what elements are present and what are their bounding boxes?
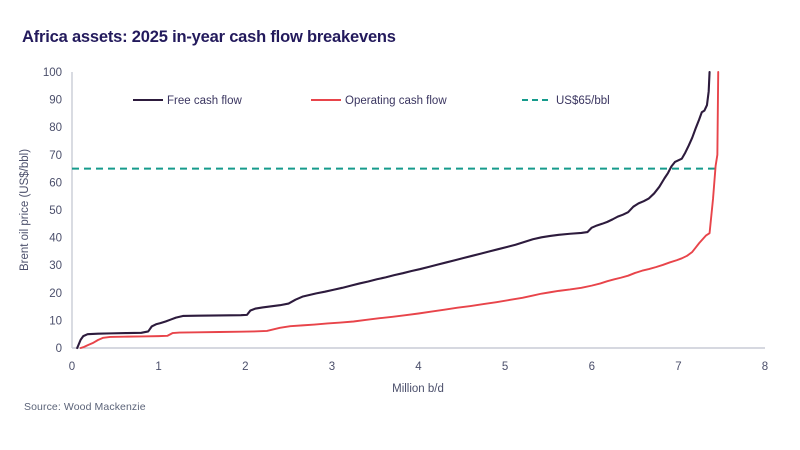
- x-tick-label: 6: [589, 361, 595, 373]
- x-tick-label: 3: [329, 361, 335, 373]
- y-tick-label: 0: [56, 343, 62, 355]
- chart-plot-area: 100 90 80 70 60 50 40 30 20 10 0 0 1 2 3…: [0, 0, 800, 450]
- y-tick-label: 80: [49, 122, 62, 134]
- x-axis-title: Million b/d: [392, 383, 444, 395]
- series-line-operating-cash-flow: [81, 72, 719, 348]
- y-tick-label: 50: [49, 205, 62, 217]
- y-tick-label: 70: [49, 150, 62, 162]
- y-tick-label: 20: [49, 288, 62, 300]
- x-tick-label: 2: [242, 361, 248, 373]
- source-note: Source: Wood Mackenzie: [24, 401, 146, 413]
- legend-label-free-cash-flow[interactable]: Free cash flow: [167, 95, 242, 107]
- y-tick-label: 30: [49, 260, 62, 272]
- x-axis-tick-labels: 0 1 2 3 4 5 6 7 8: [69, 361, 768, 373]
- y-tick-label: 10: [49, 315, 62, 327]
- y-tick-label: 60: [49, 177, 62, 189]
- legend-label-operating-cash-flow[interactable]: Operating cash flow: [345, 95, 447, 107]
- y-axis-tick-labels: 100 90 80 70 60 50 40 30 20 10 0: [43, 67, 62, 355]
- y-tick-label: 40: [49, 233, 62, 245]
- x-tick-label: 4: [415, 361, 422, 373]
- chart-svg: 100 90 80 70 60 50 40 30 20 10 0 0 1 2 3…: [0, 0, 800, 450]
- chart-card: Africa assets: 2025 in-year cash flow br…: [0, 0, 800, 450]
- x-tick-label: 7: [675, 361, 681, 373]
- x-tick-label: 1: [155, 361, 161, 373]
- y-tick-label: 100: [43, 67, 62, 79]
- legend-label-us65-threshold[interactable]: US$65/bbl: [556, 95, 610, 107]
- x-tick-label: 0: [69, 361, 75, 373]
- y-axis-title: Brent oil price (US$/bbl): [19, 149, 31, 271]
- y-tick-label: 90: [49, 95, 62, 107]
- x-tick-label: 8: [762, 361, 768, 373]
- series-line-free-cash-flow: [77, 72, 709, 348]
- chart-legend: Free cash flow Operating cash flow US$65…: [133, 95, 610, 107]
- x-tick-label: 5: [502, 361, 508, 373]
